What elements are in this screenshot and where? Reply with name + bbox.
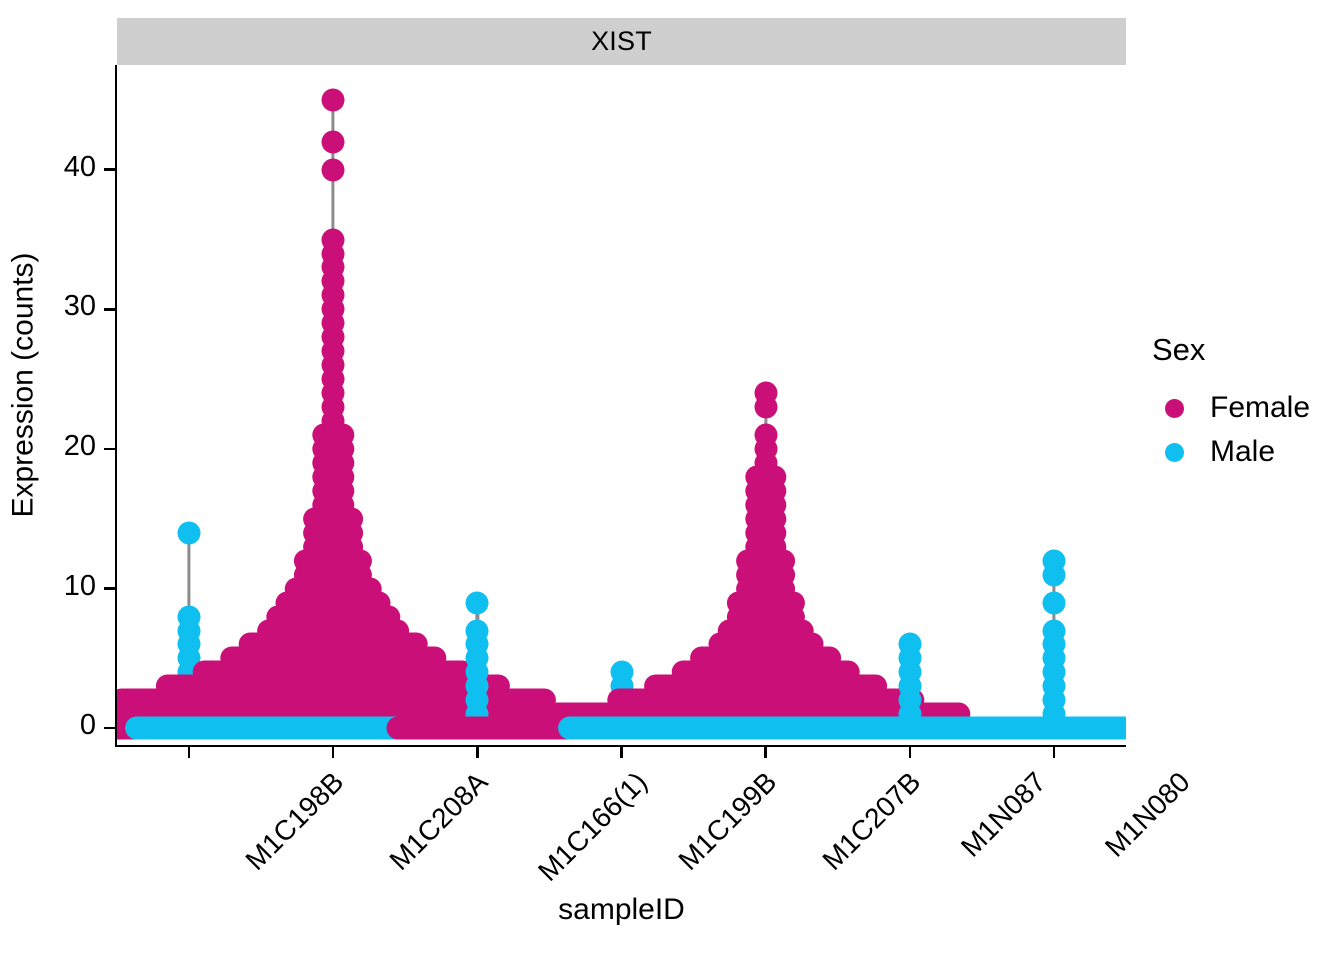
x-tick-label: M1C208A bbox=[384, 766, 495, 877]
y-tick-mark bbox=[104, 448, 115, 451]
dot-row bbox=[610, 661, 633, 684]
dot-row bbox=[466, 591, 489, 614]
x-tick-mark bbox=[1053, 747, 1056, 758]
y-tick-label: 30 bbox=[64, 292, 96, 321]
x-tick-mark bbox=[909, 747, 912, 758]
y-tick-mark bbox=[104, 308, 115, 311]
x-tick-mark bbox=[764, 747, 767, 758]
dot-row bbox=[322, 130, 345, 153]
x-axis-title: sampleID bbox=[117, 893, 1126, 927]
y-tick-label: 20 bbox=[64, 432, 96, 461]
dot-row bbox=[754, 382, 777, 405]
plot-panel bbox=[117, 65, 1126, 745]
dot-row bbox=[1042, 591, 1065, 614]
dot-row bbox=[178, 605, 201, 628]
y-tick-mark bbox=[104, 727, 115, 730]
x-tick-label: M1N087 bbox=[955, 766, 1052, 863]
dot-row bbox=[178, 521, 201, 544]
legend-item-label: Female bbox=[1210, 391, 1310, 425]
plot-root: XIST Expression (counts) sampleID 010203… bbox=[0, 0, 1344, 960]
legend-title: Sex bbox=[1152, 332, 1310, 368]
dot-row bbox=[898, 633, 921, 656]
facet-strip-label: XIST bbox=[591, 26, 652, 57]
y-tick-label: 10 bbox=[64, 572, 96, 601]
legend-entries: FemaleMale bbox=[1152, 386, 1310, 474]
x-tick-label: M1C198B bbox=[240, 766, 351, 877]
legend-item[interactable]: Male bbox=[1152, 430, 1310, 474]
y-axis-title-text: Expression (counts) bbox=[7, 252, 41, 517]
x-tick-mark bbox=[188, 747, 191, 758]
y-tick-mark bbox=[104, 587, 115, 590]
legend-item-label: Male bbox=[1210, 435, 1275, 469]
legend-item[interactable]: Female bbox=[1152, 386, 1310, 430]
y-tick-label: 40 bbox=[64, 153, 96, 182]
dot-row bbox=[322, 228, 345, 251]
x-tick-mark bbox=[476, 747, 479, 758]
dot-row bbox=[466, 619, 489, 642]
y-tick-mark bbox=[104, 168, 115, 171]
dot-row bbox=[322, 158, 345, 181]
legend-key bbox=[1152, 443, 1196, 462]
x-tick-label: M1C166(1) bbox=[532, 766, 654, 888]
dot-row bbox=[1042, 619, 1065, 642]
y-axis-title: Expression (counts) bbox=[0, 0, 48, 770]
y-tick-label: 0 bbox=[80, 711, 96, 740]
legend: Sex FemaleMale bbox=[1152, 332, 1310, 474]
legend-key bbox=[1152, 399, 1196, 418]
dot-row bbox=[754, 424, 777, 447]
circle-icon bbox=[1165, 443, 1184, 462]
x-tick-mark bbox=[332, 747, 335, 758]
dot-row bbox=[322, 88, 345, 111]
dot-row bbox=[1042, 549, 1065, 572]
facet-strip: XIST bbox=[117, 18, 1126, 65]
x-tick-mark bbox=[620, 747, 623, 758]
x-tick-label: M1N080 bbox=[1099, 766, 1196, 863]
circle-icon bbox=[1165, 399, 1184, 418]
x-tick-label: M1C207B bbox=[816, 766, 927, 877]
x-tick-label: M1C199B bbox=[672, 766, 783, 877]
